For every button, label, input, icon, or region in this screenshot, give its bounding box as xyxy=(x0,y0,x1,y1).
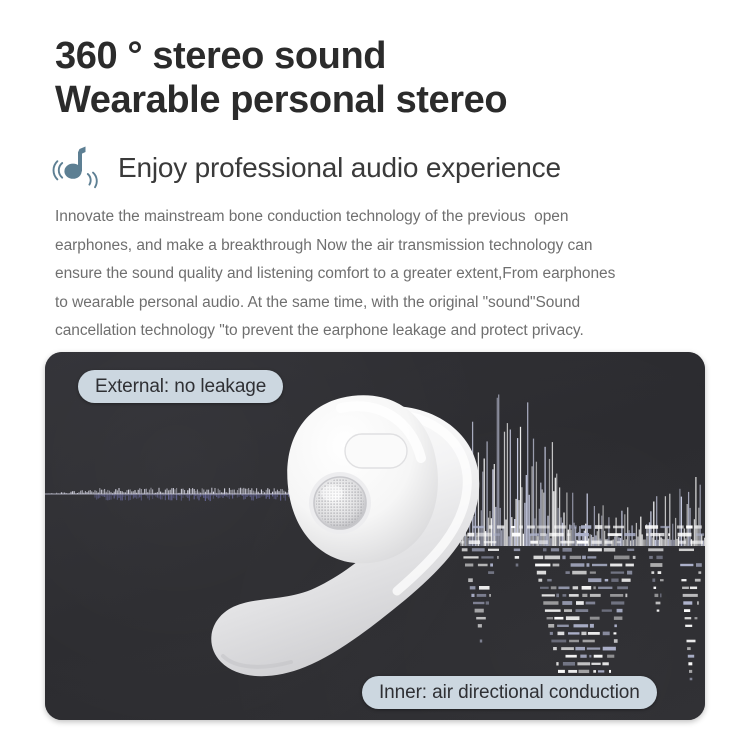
speaker-pod xyxy=(287,395,438,563)
paragraph-line: earphones, and make a breakthrough Now t… xyxy=(55,232,727,261)
page-title: 360 ° stereo sound Wearable personal ste… xyxy=(55,34,715,122)
music-note-icon xyxy=(52,146,104,190)
product-marketing-page: 360 ° stereo sound Wearable personal ste… xyxy=(0,0,750,750)
heading-line-1: 360 ° stereo sound xyxy=(55,34,715,78)
paragraph-line: Innovate the mainstream bone conduction … xyxy=(55,203,727,232)
touch-control-panel[interactable] xyxy=(345,434,407,468)
paragraph-line: ensure the sound quality and listening c… xyxy=(55,260,727,289)
description-paragraph: Innovate the mainstream bone conduction … xyxy=(55,203,727,346)
badge-external-no-leakage: External: no leakage xyxy=(78,370,283,403)
paragraph-line: to wearable personal audio. At the same … xyxy=(55,289,727,318)
earphone-product-image xyxy=(165,362,525,712)
heading-line-2: Wearable personal stereo xyxy=(55,78,715,122)
speaker-grille xyxy=(309,472,371,534)
subheading-row: Enjoy professional audio experience xyxy=(52,146,561,190)
badge-inner-conduction: Inner: air directional conduction xyxy=(362,676,657,709)
product-photo: External: no leakage Inner: air directio… xyxy=(45,352,705,720)
subheading-text: Enjoy professional audio experience xyxy=(118,152,561,184)
paragraph-line: cancellation technology "to prevent the … xyxy=(55,317,727,346)
